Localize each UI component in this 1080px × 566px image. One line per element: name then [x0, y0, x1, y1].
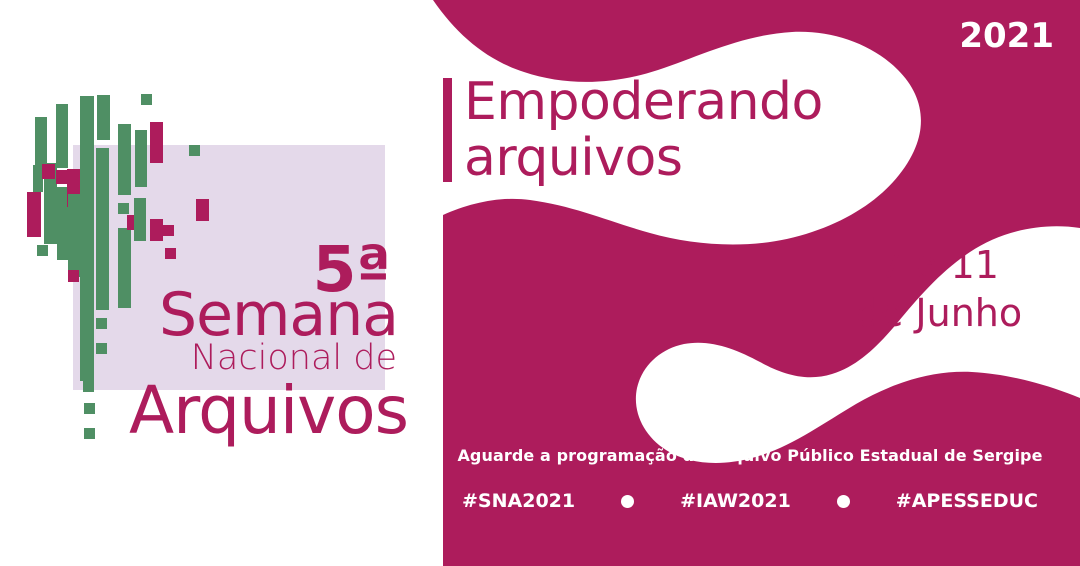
hashtag-row: #SNA2021 #IAW2021 #APESSEDUC — [443, 490, 1057, 512]
footer-note: Aguarde a programação do Arquivo Público… — [443, 446, 1057, 465]
logo-block: 5ª Semana Nacional de Arquivos — [0, 0, 430, 566]
hashtag-2: #IAW2021 — [680, 490, 791, 512]
logo-line-arquivos: Arquivos — [129, 378, 408, 444]
headline-line-2: arquivos — [464, 130, 823, 186]
date-line-2: de Junho — [824, 290, 1054, 338]
logo-line-nacional: Nacional de — [191, 341, 397, 376]
hashtag-1: #SNA2021 — [462, 490, 575, 512]
headline-rule-icon — [443, 78, 452, 182]
headline: Empoderando arquivos — [443, 74, 823, 186]
logo-wordmark: 5ª Semana Nacional de Arquivos — [0, 0, 430, 566]
poster-canvas: 5ª Semana Nacional de Arquivos 2021 Empo… — [0, 0, 1080, 566]
date-line-1: 7 a 11 — [824, 242, 1054, 290]
separator-dot-icon — [837, 495, 850, 508]
hashtag-3: #APESSEDUC — [896, 490, 1038, 512]
headline-line-1: Empoderando — [464, 74, 823, 130]
logo-line-semana: Semana — [159, 285, 398, 345]
event-date: 7 a 11 de Junho — [824, 242, 1054, 338]
headline-text: Empoderando arquivos — [464, 74, 823, 186]
year-label: 2021 — [959, 16, 1054, 56]
separator-dot-icon — [621, 495, 634, 508]
